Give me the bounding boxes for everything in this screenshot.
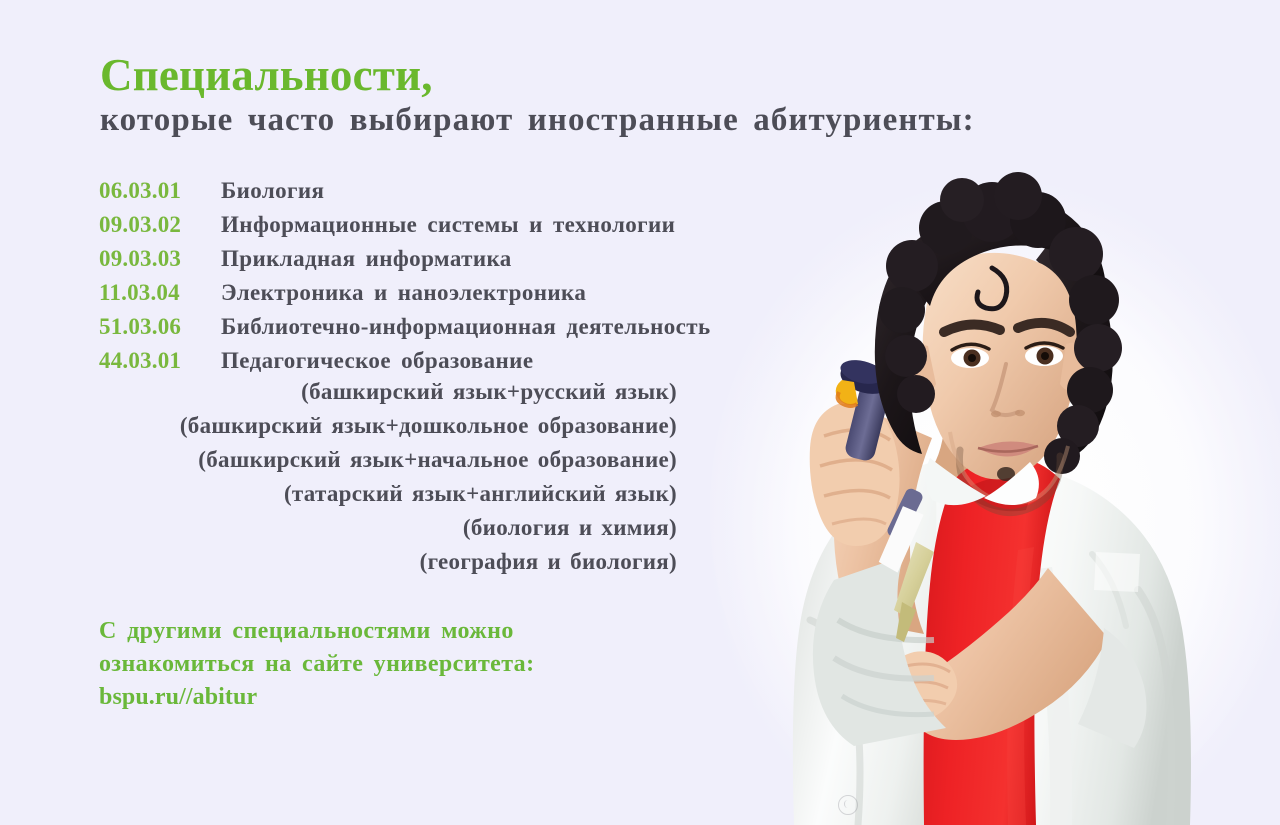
program-code: 44.03.01	[99, 348, 221, 374]
program-name: Педагогическое образование	[221, 348, 533, 374]
list-item: 09.03.02 Информационные системы и технол…	[99, 212, 789, 246]
page-subtitle: которые часто выбирают иностранные абиту…	[100, 99, 1080, 141]
list-item: 09.03.03 Прикладная информатика	[99, 246, 789, 280]
program-code: 11.03.04	[99, 280, 221, 306]
list-item: 06.03.01 Биология	[99, 178, 789, 212]
poster-canvas: Специальности, которые часто выбирают ин…	[0, 0, 1280, 825]
program-name: Информационные системы и технологии	[221, 212, 675, 238]
list-item: (башкирский язык+дошкольное образование)	[80, 409, 677, 443]
program-code: 09.03.02	[99, 212, 221, 238]
program-name: Прикладная информатика	[221, 246, 512, 272]
program-name: Библиотечно-информационная деятельность	[221, 314, 711, 340]
headline-block: Специальности, которые часто выбирают ин…	[100, 52, 1080, 141]
program-code: 09.03.03	[99, 246, 221, 272]
footer-line-2: ознакомиться на сайте университета:	[99, 648, 659, 681]
page-title: Специальности,	[100, 52, 1080, 99]
program-list: 06.03.01 Биология 09.03.02 Информационны…	[99, 178, 789, 382]
website-url[interactable]: bspu.ru//abitur	[99, 681, 659, 714]
footer-line-1: С другими специальностями можно	[99, 615, 659, 648]
list-item: (география и биология)	[80, 545, 677, 579]
program-name: Электроника и наноэлектроника	[221, 280, 586, 306]
list-item: (биология и химия)	[80, 511, 677, 545]
footer-note: С другими специальностями можно ознакоми…	[99, 615, 659, 714]
list-item: (башкирский язык+начальное образование)	[80, 443, 677, 477]
list-item: 11.03.04 Электроника и наноэлектроника	[99, 280, 789, 314]
program-code: 06.03.01	[99, 178, 221, 204]
program-code: 51.03.06	[99, 314, 221, 340]
list-item: 51.03.06 Библиотечно-информационная деят…	[99, 314, 789, 348]
list-item: (татарский язык+английский язык)	[80, 477, 677, 511]
list-item: (башкирский язык+русский язык)	[80, 375, 677, 409]
profile-list: (башкирский язык+русский язык) (башкирск…	[80, 375, 677, 579]
program-name: Биология	[221, 178, 324, 204]
